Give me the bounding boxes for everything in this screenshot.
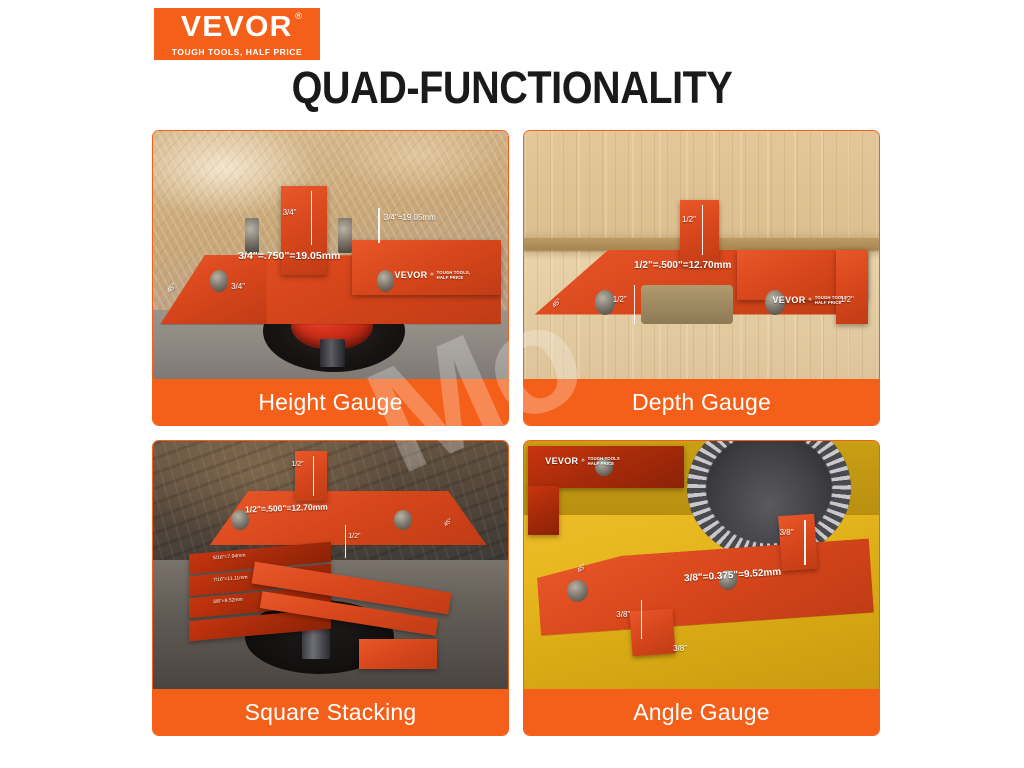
tool-brand-registered-icon: ®	[430, 272, 433, 277]
angle-gauge-step-left-label: 3/8"	[616, 610, 630, 619]
angle-gauge-hole-left	[567, 580, 588, 602]
tool-brand-registered-icon: ®	[809, 297, 812, 302]
depth-gauge-dim-line-left	[634, 285, 635, 325]
registered-trademark-icon: ®	[295, 12, 302, 21]
angle-gauge-step-top-label: 3/8"	[780, 528, 794, 537]
router-bit-shaft	[320, 339, 345, 366]
stacking-foot-block	[359, 639, 437, 669]
tool-brand-word: VEVOR	[773, 295, 806, 305]
angle-gauge-vevor-mark: VEVOR ® TOUGH TOOLS HALF PRICE	[545, 456, 619, 466]
caption-depth-gauge: Depth Gauge	[524, 379, 879, 425]
height-gauge-step-top-label: 3/4"	[283, 208, 297, 217]
product-feature-image: VEVOR® TOUGH TOOLS, HALF PRICE QUAD-FUNC…	[0, 0, 1024, 768]
photo-height-gauge: 3/4" 3/4"=.750"=19.05mm 3/4"=19.05mm 3/4…	[153, 131, 508, 379]
feature-card-square-stacking: 1/2" 1/2"=.500"=12.70mm 1/2" 45° 5/16"=7…	[152, 440, 509, 736]
height-gauge-step-right-label: 3/4"	[231, 282, 245, 291]
logo-tagline: TOUGH TOOLS, HALF PRICE	[172, 47, 302, 57]
logo-wordmark-text: VEVOR	[181, 11, 293, 43]
height-gauge-secondary-label: 3/4"=19.05mm	[384, 213, 436, 222]
depth-gauge-main-label: 1/2"=.500"=12.70mm	[634, 260, 731, 271]
caption-height-gauge: Height Gauge	[153, 379, 508, 425]
height-gauge-dim-line-top	[311, 191, 312, 246]
stacking-dim-line-top	[313, 456, 314, 496]
caption-square-stacking: Square Stacking	[153, 689, 508, 735]
depth-gauge-step-top-label: 1/2"	[682, 215, 696, 224]
stacking-step-top-label: 1/2"	[291, 461, 303, 468]
feature-card-height-gauge: 3/4" 3/4"=.750"=19.05mm 3/4"=19.05mm 3/4…	[152, 130, 509, 426]
height-gauge-hole-left	[210, 270, 228, 292]
logo-wordmark: VEVOR®	[181, 13, 293, 42]
angle-gauge-step-bottom-label: 3/8"	[673, 644, 687, 653]
feature-card-angle-gauge: VEVOR ® TOUGH TOOLS HALF PRICE 3/8" 3/8"…	[523, 440, 880, 736]
stacking-dim-line-mid	[345, 525, 346, 557]
angle-gauge-step-block	[778, 514, 817, 571]
depth-gauge-dim-line-top	[702, 205, 703, 255]
depth-gauge-recess	[641, 285, 733, 325]
height-gauge-vevor-mark: VEVOR ® TOUGH TOOLS, HALF PRICE	[394, 270, 470, 280]
depth-gauge-vevor-mark: VEVOR ® TOUGH TOOLS HALF PRICE	[773, 295, 847, 305]
depth-gauge-hole-left	[595, 290, 615, 315]
photo-angle-gauge: VEVOR ® TOUGH TOOLS HALF PRICE 3/8" 3/8"…	[524, 441, 879, 689]
tool-brand-tagline-line2: HALF PRICE	[437, 275, 471, 280]
height-gauge-right-arm	[352, 240, 501, 295]
stacking-gauge-step-block	[295, 451, 327, 501]
tool-brand-tagline: TOUGH TOOLS, HALF PRICE	[437, 270, 471, 280]
angle-gauge-dim-line-left	[641, 600, 642, 640]
tool-brand-tagline: TOUGH TOOLS HALF PRICE	[815, 295, 847, 305]
photo-square-stacking: 1/2" 1/2"=.500"=12.70mm 1/2" 45° 5/16"=7…	[153, 441, 508, 689]
stacking-step-mid-label: 1/2"	[348, 533, 360, 540]
feature-card-depth-gauge: 1/2" 1/2"=.500"=12.70mm 1/2" 1/2" 45° VE…	[523, 130, 880, 426]
height-gauge-main-label: 3/4"=.750"=19.05mm	[238, 250, 340, 262]
vevor-logo: VEVOR® TOUGH TOOLS, HALF PRICE	[154, 8, 320, 60]
height-gauge-notch-left	[245, 218, 259, 253]
tool-brand-tagline-line2: HALF PRICE	[815, 300, 847, 305]
height-gauge-notch-right	[338, 218, 352, 253]
caption-angle-gauge: Angle Gauge	[524, 689, 879, 735]
photo-depth-gauge: 1/2" 1/2"=.500"=12.70mm 1/2" 1/2" 45° VE…	[524, 131, 879, 379]
angle-gauge-upper-leg	[528, 486, 560, 536]
tool-brand-tagline: TOUGH TOOLS HALF PRICE	[588, 456, 620, 466]
feature-grid: 3/4" 3/4"=.750"=19.05mm 3/4"=19.05mm 3/4…	[152, 130, 880, 740]
tool-brand-registered-icon: ®	[581, 458, 584, 463]
tool-brand-tagline-line2: HALF PRICE	[588, 461, 620, 466]
angle-gauge-dim-line-top	[804, 520, 805, 565]
depth-gauge-right-tab	[836, 250, 868, 324]
depth-gauge-step-left-label: 1/2"	[613, 295, 627, 304]
depth-gauge-step-block	[680, 200, 719, 264]
tool-brand-word: VEVOR	[394, 270, 427, 280]
height-gauge-dim-line-right	[378, 208, 379, 243]
page-title: QUAD-FUNCTIONALITY	[61, 62, 962, 114]
tool-brand-word: VEVOR	[545, 456, 578, 466]
angle-gauge-lower-tab	[629, 608, 675, 655]
